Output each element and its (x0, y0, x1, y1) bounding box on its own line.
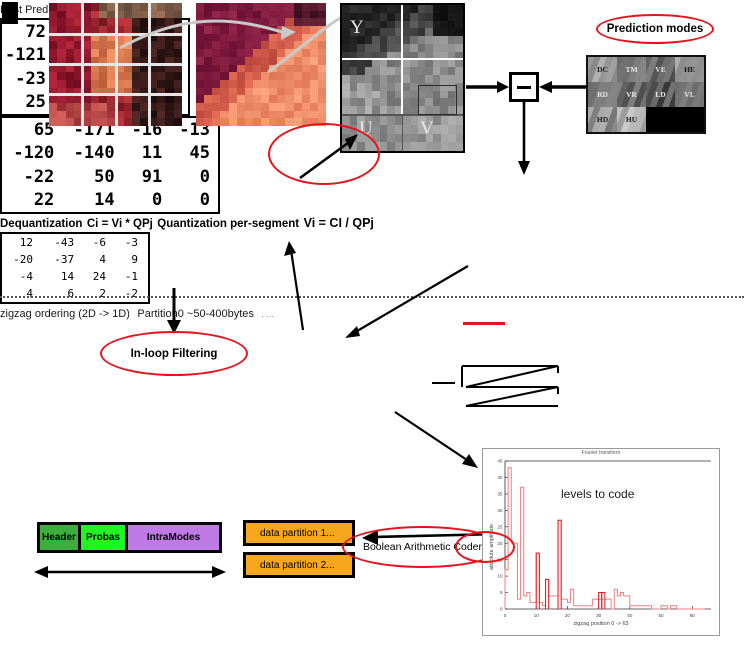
svg-text:40: 40 (497, 475, 503, 480)
chart-annotation: levels to code (561, 487, 634, 501)
svg-text:50: 50 (658, 613, 664, 618)
svg-text:5: 5 (500, 590, 503, 595)
chart-xlabel: zigzag position 0 -> 63 (483, 621, 719, 627)
svg-text:25: 25 (497, 524, 503, 529)
levels-highlight-ellipse (455, 531, 515, 563)
svg-text:30: 30 (596, 613, 602, 618)
svg-text:0: 0 (500, 607, 503, 612)
svg-text:10: 10 (497, 574, 503, 579)
svg-text:10: 10 (534, 613, 540, 618)
svg-text:30: 30 (497, 508, 503, 513)
svg-text:0: 0 (504, 613, 507, 618)
svg-text:45: 45 (497, 459, 503, 464)
coefficient-histogram-chart: Fourier transform 0102030405060051015202… (482, 448, 720, 636)
svg-text:40: 40 (627, 613, 633, 618)
chart-plot-area: 0102030405060051015202530354045 (483, 449, 719, 635)
svg-text:35: 35 (497, 491, 503, 496)
svg-text:20: 20 (565, 613, 571, 618)
svg-text:60: 60 (690, 613, 696, 618)
